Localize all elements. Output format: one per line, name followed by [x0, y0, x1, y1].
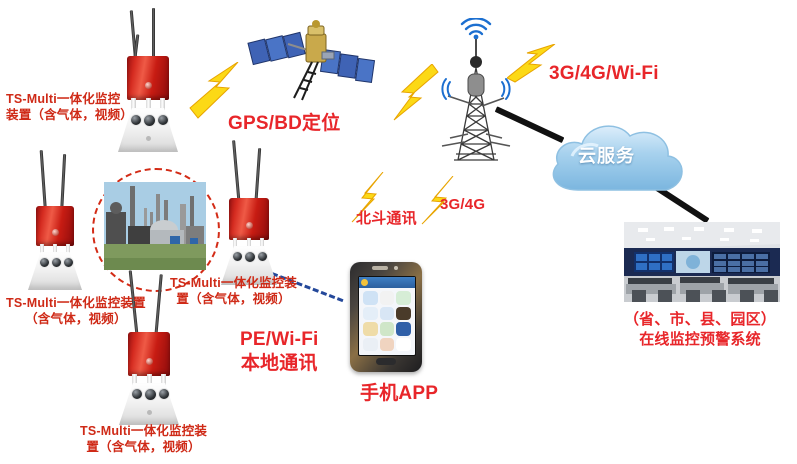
device-body [127, 56, 169, 100]
device-indicator [146, 136, 151, 141]
pda-app-icon[interactable] [380, 307, 395, 321]
control-room-photo [624, 222, 780, 302]
device-sensor-lens [131, 388, 143, 400]
pda-camera-icon [394, 266, 398, 270]
pda-app-icon[interactable] [396, 338, 411, 352]
label-control-center: （省、市、县、园区） 在线监控预警系统 [610, 310, 790, 351]
cell-tower-icon [428, 18, 524, 164]
label-local-comm: PE/Wi-Fi 本地通讯 [240, 328, 318, 376]
device-sensor-lens [157, 114, 169, 126]
device-sensor-lens [158, 388, 170, 400]
device-body [128, 332, 170, 376]
pda-app-icon[interactable] [363, 322, 378, 336]
device-sensor-lens [39, 257, 50, 268]
label-beidou: 北斗通讯 [356, 210, 417, 229]
device-sensor-lens [51, 257, 62, 268]
label-device-middle: TS-Multi一体化监控装 置（含气体，视频） [170, 276, 297, 307]
device-antenna [40, 150, 47, 212]
satellite-icon [246, 12, 378, 112]
label-phone-app: 手机APP [360, 382, 438, 406]
device-sensor-lens [143, 114, 156, 127]
pda-app-icon[interactable] [380, 322, 395, 336]
device-body [229, 198, 269, 240]
pda-app-icon[interactable] [380, 291, 395, 305]
device-body [36, 206, 74, 246]
pda-app-icon[interactable] [380, 338, 395, 352]
label-device-bottom: TS-Multi一体化监控装 置（含气体，视频） [80, 424, 207, 455]
cloud-icon: 云服务 [542, 112, 692, 198]
pda-app-icon[interactable] [396, 307, 411, 321]
monitoring-device-middle [212, 140, 292, 285]
pda-app-icon[interactable] [363, 291, 378, 305]
device-indicator [147, 410, 152, 415]
pda-speaker-grill [372, 266, 388, 270]
label-cellular: 3G/4G [440, 196, 485, 215]
device-antenna [154, 274, 163, 340]
label-cellular-wifi: 3G/4G/Wi-Fi [549, 62, 659, 86]
device-sensor-lens [244, 251, 256, 263]
pda-app-icon[interactable] [396, 322, 411, 336]
pda-app-icon[interactable] [396, 291, 411, 305]
pda-screen [358, 276, 416, 356]
device-sensor-lens [63, 257, 74, 268]
pda-app-grid [363, 291, 411, 351]
device-sensor-lens [232, 251, 243, 262]
monitoring-device-top [108, 8, 200, 166]
rugged-pda-device[interactable] [350, 262, 422, 372]
monitoring-device-left [20, 150, 100, 290]
label-device-top: TS-Multi一体化监控 装置（含气体，视频） [6, 92, 133, 123]
pda-app-icon[interactable] [363, 307, 378, 321]
cloud-label: 云服务 [578, 142, 635, 168]
device-sensor-lens [257, 251, 268, 262]
pda-app-icon[interactable] [363, 338, 378, 352]
label-device-left: TS-Multi一体化监控装置 （含气体，视频） [6, 296, 146, 327]
industrial-plant-photo [104, 182, 206, 270]
pda-home-button[interactable] [376, 358, 396, 365]
diagram-canvas: 云服务 [0, 0, 797, 464]
device-sensor-lens [144, 388, 157, 401]
label-gps: GPS/BD定位 [228, 112, 340, 136]
